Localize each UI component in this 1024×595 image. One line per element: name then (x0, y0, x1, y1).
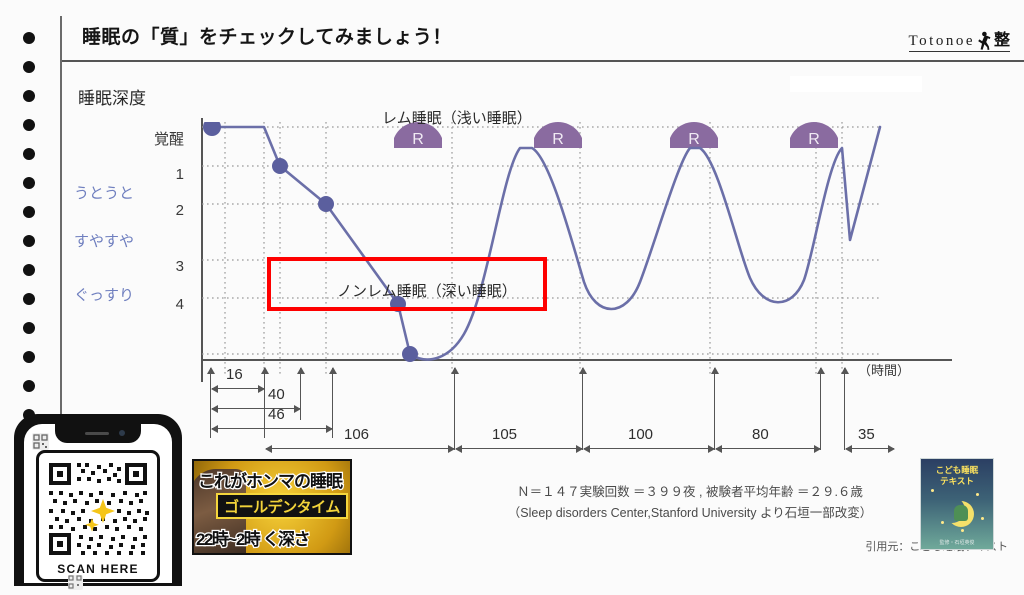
y-band-label-utouto: うとうと (74, 182, 170, 203)
measure-span (456, 448, 582, 449)
y-tick-3: 3 (120, 258, 184, 275)
rem-sleep-label: レム睡眠（浅い睡眠） (382, 107, 532, 128)
footnote-line-2: （Sleep disorders Center,Stanford Univers… (460, 503, 920, 524)
sleep-depth-chart: 睡眠深度 覚醒 1 2 3 4 うとうと すやすや ぐっすり (62, 62, 1024, 462)
measure-span (846, 448, 894, 449)
footnote-line-1: Ｎ＝１４７実験回数 ＝３９９夜 , 被験者平均年齢 ＝２９.６歳 (460, 482, 920, 503)
qr-code-panel[interactable]: SCAN HERE (36, 450, 160, 582)
sleep-curve-svg: R R R R (202, 122, 882, 377)
binding-hole (23, 61, 35, 73)
binding-hole (23, 119, 35, 131)
running-person-icon (976, 31, 991, 50)
measure-value-16: 16 (226, 366, 243, 383)
thumbnail-qr-icon (68, 575, 83, 590)
y-band-label-gussuri: ぐっすり (74, 284, 170, 305)
thumbnail-line-3: 22時~2時 く深さ (196, 525, 352, 550)
svg-text:R: R (412, 131, 424, 148)
measure-span (212, 388, 264, 389)
slide-canvas: 睡眠の「質」をチェックしてみましょう！ Totonoe 整 睡眠深度 覚醒 1 … (0, 0, 1024, 576)
measure-value-105: 105 (492, 426, 517, 443)
thumbnail-line-2: ゴールデンタイム (216, 493, 348, 519)
plot-area: R R R R (202, 122, 882, 377)
measure-value-100: 100 (628, 426, 653, 443)
binding-hole (23, 293, 35, 305)
binding-hole (23, 351, 35, 363)
study-footnote: Ｎ＝１４７実験回数 ＝３９９夜 , 被験者平均年齢 ＝２９.６歳 （Sleep … (460, 482, 920, 523)
measure-tick (582, 368, 583, 450)
measure-value-35: 35 (858, 426, 875, 443)
svg-text:R: R (552, 131, 564, 148)
measure-value-106: 106 (344, 426, 369, 443)
measure-tick (844, 368, 845, 450)
brand-logo: Totonoe 整 (909, 26, 1010, 52)
vertical-gridlines (225, 122, 842, 377)
thumbnail-line-1: これがホンマの睡眠 (198, 467, 352, 492)
phone-screen: SCAN HERE (24, 424, 172, 583)
scan-here-label: SCAN HERE (57, 562, 138, 576)
y-tick-awake: 覚醒 (120, 128, 184, 149)
qr-code-image[interactable] (45, 459, 151, 559)
binding-hole (23, 264, 35, 276)
video-thumbnail[interactable]: これがホンマの睡眠 ゴールデンタイム 22時~2時 く深さ (192, 459, 352, 555)
measure-value-40: 40 (268, 386, 285, 403)
binding-hole (23, 148, 35, 160)
qr-code-icon (32, 433, 49, 450)
y-tick-2: 2 (120, 202, 184, 219)
binding-hole (23, 235, 35, 247)
measure-span (212, 408, 300, 409)
sleep-depth-curve (212, 127, 880, 360)
measure-span (716, 448, 820, 449)
binding-hole (23, 177, 35, 189)
svg-text:R: R (688, 131, 700, 148)
non-rem-sleep-label: ノンレム睡眠（深い睡眠） (337, 280, 517, 301)
measure-span (584, 448, 714, 449)
binding-hole (23, 322, 35, 334)
phone-mockup: SCAN HERE (14, 414, 182, 586)
brand-kanji: 整 (994, 26, 1010, 50)
brand-wordmark: Totonoe (909, 33, 975, 50)
binding-hole (23, 206, 35, 218)
measure-tick (714, 368, 715, 450)
page-title: 睡眠の「質」をチェックしてみましょう！ (82, 22, 452, 49)
phone-notch (55, 424, 141, 443)
measure-tick (820, 368, 821, 450)
time-interval-measures: 16 40 46 106 105 100 80 35 (202, 362, 962, 452)
measure-span (212, 428, 332, 429)
book-footer-text: 監修・石垣英俊 (921, 539, 993, 546)
phone-side-button (179, 489, 182, 523)
svg-text:R: R (808, 131, 820, 148)
curve-data-points (203, 122, 418, 362)
binding-hole (23, 380, 35, 392)
binding-hole (23, 32, 35, 44)
y-axis-title: 睡眠深度 (78, 84, 146, 109)
book-cover-image: こども睡眠 テキスト 監修・石垣英俊 (920, 458, 994, 550)
phone-camera-icon (119, 430, 125, 436)
measure-value-80: 80 (752, 426, 769, 443)
measure-value-46: 46 (268, 406, 285, 423)
child-illustration (954, 505, 968, 521)
measure-tick (454, 368, 455, 450)
book-title-line-2: テキスト (921, 475, 993, 487)
phone-speaker-icon (85, 432, 109, 435)
slide-header: 睡眠の「質」をチェックしてみましょう！ Totonoe 整 (62, 16, 1024, 62)
y-tick-1: 1 (120, 166, 184, 183)
y-band-label-suyasuya: すやすや (74, 230, 170, 251)
binding-hole (23, 90, 35, 102)
rem-letters: R R R R (412, 131, 820, 148)
measure-span (266, 448, 454, 449)
